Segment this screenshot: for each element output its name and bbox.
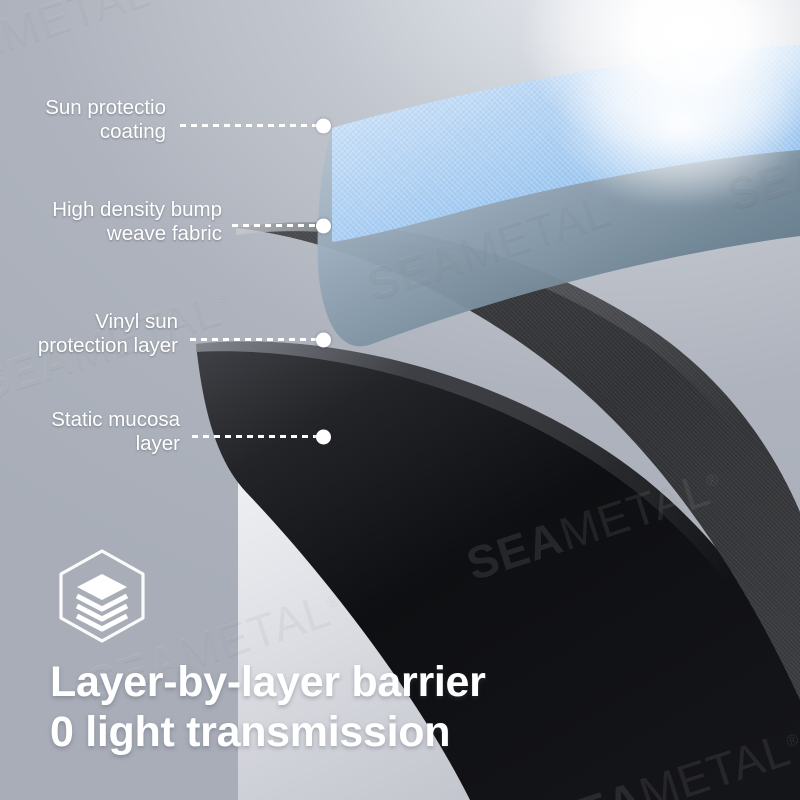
feature-headline: Layer-by-layer barrier 0 light transmiss… xyxy=(50,658,670,758)
leader-dots xyxy=(190,338,322,341)
callout-label-sun-protection-coating: Sun protectio coating xyxy=(0,96,166,144)
headline-line-1: Layer-by-layer barrier xyxy=(50,658,486,706)
callout-label-high-density-bump-weave-fabric: High density bump weave fabric xyxy=(0,198,222,246)
leader-endpoint-dot xyxy=(316,218,331,233)
leader-line-2 xyxy=(232,224,322,227)
callout-label-static-mucosa-layer: Static mucosa layer xyxy=(0,408,180,456)
leader-endpoint-dot xyxy=(316,118,331,133)
callout-label-vinyl-sun-protection-layer: Vinyl sun protection layer xyxy=(0,310,178,358)
leader-dots xyxy=(180,124,322,127)
leader-dots xyxy=(192,435,322,438)
leader-line-4 xyxy=(192,435,322,438)
infographic-canvas: SEAMETAL® SEAMETAL® SEAMETAL® SEAMETAL® … xyxy=(0,0,800,800)
leader-endpoint-dot xyxy=(316,429,331,444)
leader-line-1 xyxy=(180,124,322,127)
leader-dots xyxy=(232,224,322,227)
leader-endpoint-dot xyxy=(316,332,331,347)
headline-line-2: 0 light transmission xyxy=(50,708,670,758)
leader-line-3 xyxy=(190,338,322,341)
layers-stack-hexagon-icon xyxy=(56,548,148,644)
